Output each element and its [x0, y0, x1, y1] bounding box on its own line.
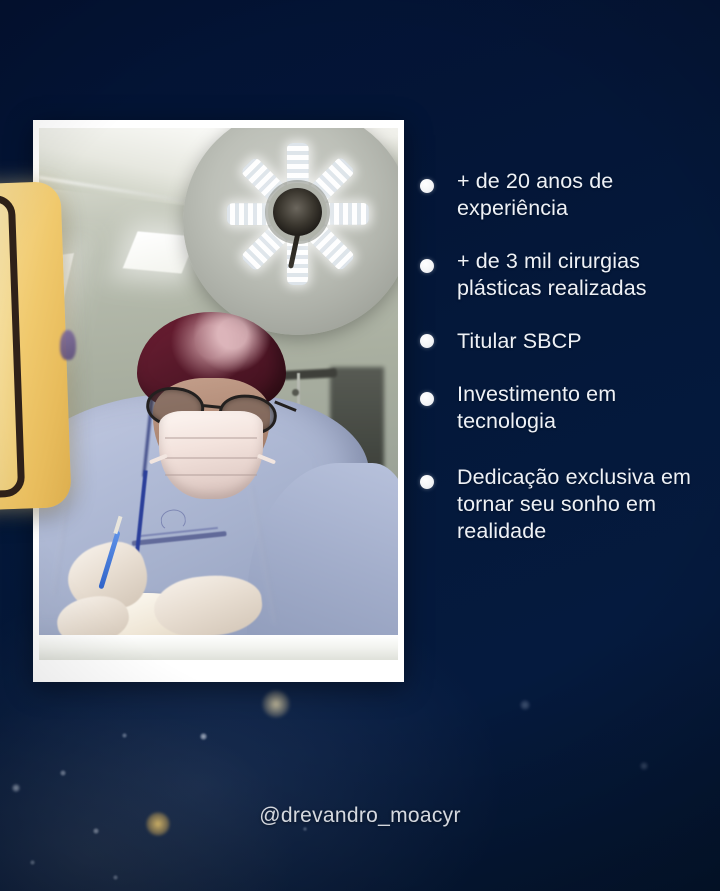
- promo-card: + de 20 anos de experiência + de 3 mil c…: [0, 0, 720, 891]
- vignette-overlay: [0, 0, 720, 891]
